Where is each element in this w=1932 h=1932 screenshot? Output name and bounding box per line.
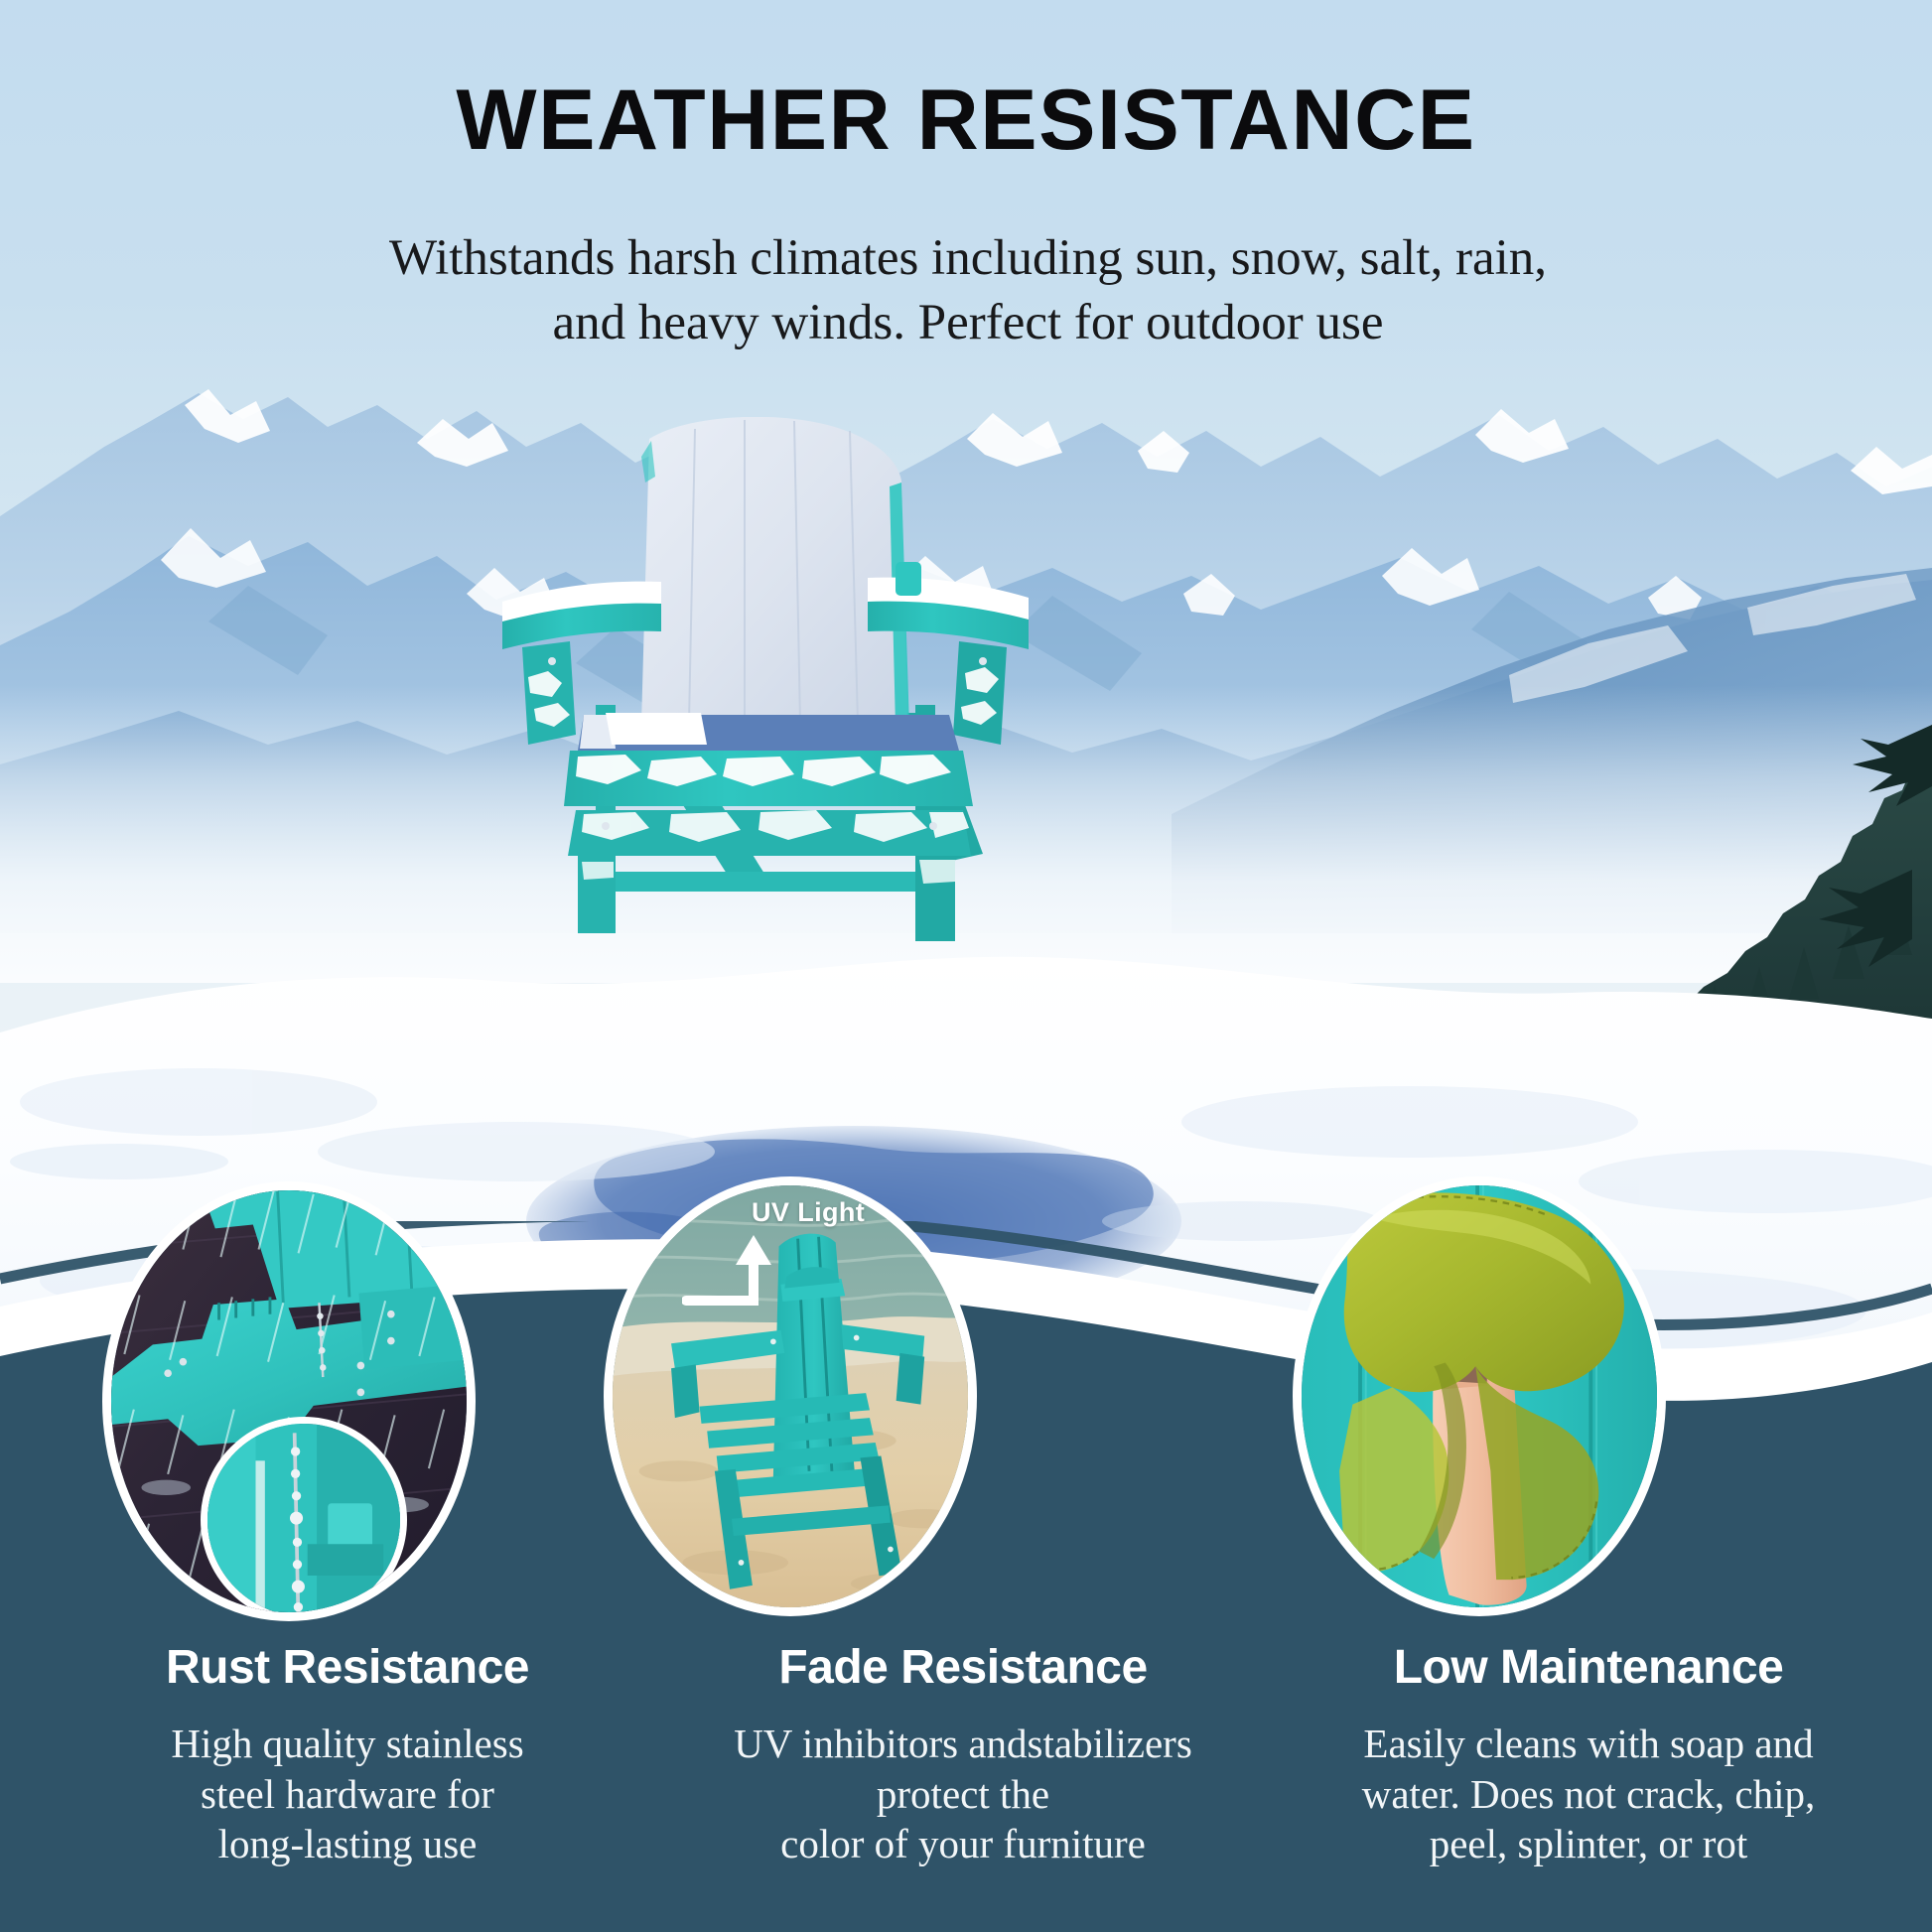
subtitle-line-2: and heavy winds. Perfect for outdoor use bbox=[328, 291, 1608, 355]
card-body-line: long-lasting use bbox=[50, 1819, 645, 1868]
card-body-line: color of your furniture bbox=[635, 1819, 1291, 1868]
card-heading-low-maintenance: Low Maintenance bbox=[1281, 1643, 1896, 1693]
card-heading-fade-resistance: Fade Resistance bbox=[635, 1643, 1291, 1693]
card-heading-rust-resistance: Rust Resistance bbox=[50, 1643, 645, 1693]
card-body-fade-resistance: UV inhibitors andstabilizers protect the… bbox=[635, 1719, 1291, 1868]
card-low-maintenance: Low Maintenance Easily cleans with soap … bbox=[1281, 1643, 1896, 1869]
card-body-line: peel, splinter, or rot bbox=[1281, 1819, 1896, 1868]
feature-image-low-maintenance bbox=[1293, 1176, 1666, 1616]
card-body-line: Easily cleans with soap and bbox=[1281, 1719, 1896, 1768]
card-body-rust-resistance: High quality stainless steel hardware fo… bbox=[50, 1719, 645, 1868]
card-body-line: protect the bbox=[635, 1769, 1291, 1819]
card-body-line: UV inhibitors andstabilizers bbox=[635, 1719, 1291, 1768]
hardware-detail-inset bbox=[201, 1417, 407, 1621]
feature-image-fade-resistance: UV Light bbox=[604, 1176, 977, 1616]
uv-light-label: UV Light bbox=[752, 1197, 865, 1228]
card-fade-resistance: Fade Resistance UV inhibitors andstabili… bbox=[635, 1643, 1291, 1869]
page-subtitle: Withstands harsh climates including sun,… bbox=[328, 226, 1608, 356]
card-body-line: water. Does not crack, chip, bbox=[1281, 1769, 1896, 1819]
hand-wiping-surface-photo bbox=[1302, 1185, 1657, 1607]
weather-resistance-infographic: WEATHER RESISTANCE Withstands harsh clim… bbox=[0, 0, 1932, 1932]
feature-image-rust-resistance bbox=[102, 1181, 476, 1621]
adirondack-chair-hero bbox=[467, 417, 1062, 943]
stainless-chain-closeup bbox=[207, 1424, 400, 1616]
uv-arrow-icon bbox=[682, 1227, 821, 1326]
page-title: WEATHER RESISTANCE bbox=[0, 77, 1932, 163]
subtitle-line-1: Withstands harsh climates including sun,… bbox=[328, 226, 1608, 291]
card-body-low-maintenance: Easily cleans with soap and water. Does … bbox=[1281, 1719, 1896, 1868]
card-rust-resistance: Rust Resistance High quality stainless s… bbox=[50, 1643, 645, 1869]
card-body-line: steel hardware for bbox=[50, 1769, 645, 1819]
card-body-line: High quality stainless bbox=[50, 1719, 645, 1768]
